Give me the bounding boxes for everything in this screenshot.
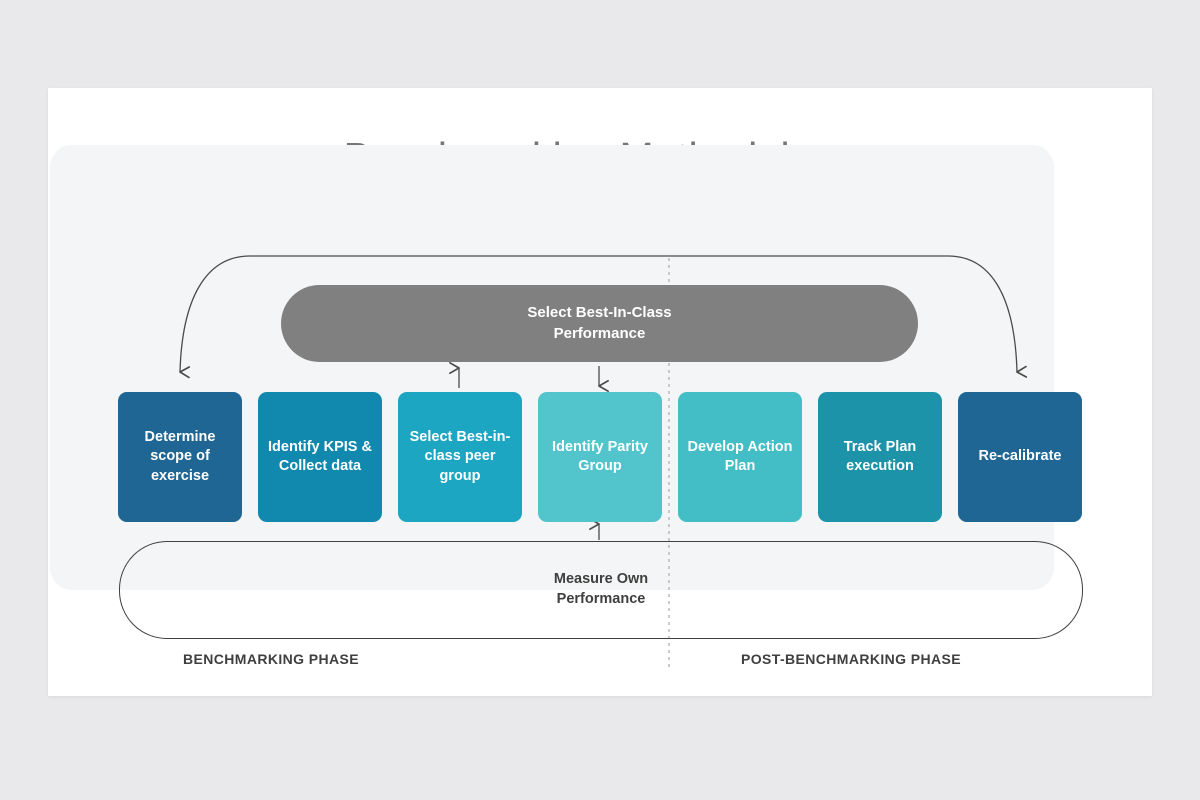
process-step-1[interactable]: Determine scope of exercise [118, 392, 242, 522]
diagram-panel [50, 145, 1054, 590]
phase-label-post-benchmarking: POST-BENCHMARKING PHASE [741, 651, 961, 667]
bottom-banner-line-2: Performance [557, 591, 646, 607]
top-banner-label: Select Best-In-Class Performance [527, 303, 671, 344]
process-step-1-label: Determine scope of exercise [126, 428, 234, 485]
process-step-3[interactable]: Select Best-in-class peer group [398, 392, 522, 522]
process-step-2[interactable]: Identify KPIS & Collect data [258, 392, 382, 522]
process-step-7[interactable]: Re-calibrate [958, 392, 1082, 522]
bottom-banner-label: Measure Own Performance [554, 570, 648, 609]
process-step-6-label: Track Plan execution [826, 438, 934, 476]
process-step-2-label: Identify KPIS & Collect data [266, 438, 374, 476]
top-banner-select-best-in-class[interactable]: Select Best-In-Class Performance [281, 285, 918, 362]
bottom-banner-line-1: Measure Own [554, 571, 648, 587]
top-banner-line-2: Performance [554, 325, 646, 342]
phase-label-benchmarking: BENCHMARKING PHASE [183, 651, 359, 667]
process-step-6[interactable]: Track Plan execution [818, 392, 942, 522]
process-step-4-label: Identify Parity Group [546, 438, 654, 476]
process-step-5-label: Develop Action Plan [686, 438, 794, 476]
top-banner-line-1: Select Best-In-Class [527, 304, 671, 321]
process-step-row: Determine scope of exercise Identify KPI… [118, 392, 1082, 522]
bottom-banner-measure-own-performance[interactable]: Measure Own Performance [119, 541, 1083, 639]
process-step-7-label: Re-calibrate [978, 447, 1061, 466]
process-step-3-label: Select Best-in-class peer group [406, 428, 514, 485]
process-step-5[interactable]: Develop Action Plan [678, 392, 802, 522]
process-step-4[interactable]: Identify Parity Group [538, 392, 662, 522]
